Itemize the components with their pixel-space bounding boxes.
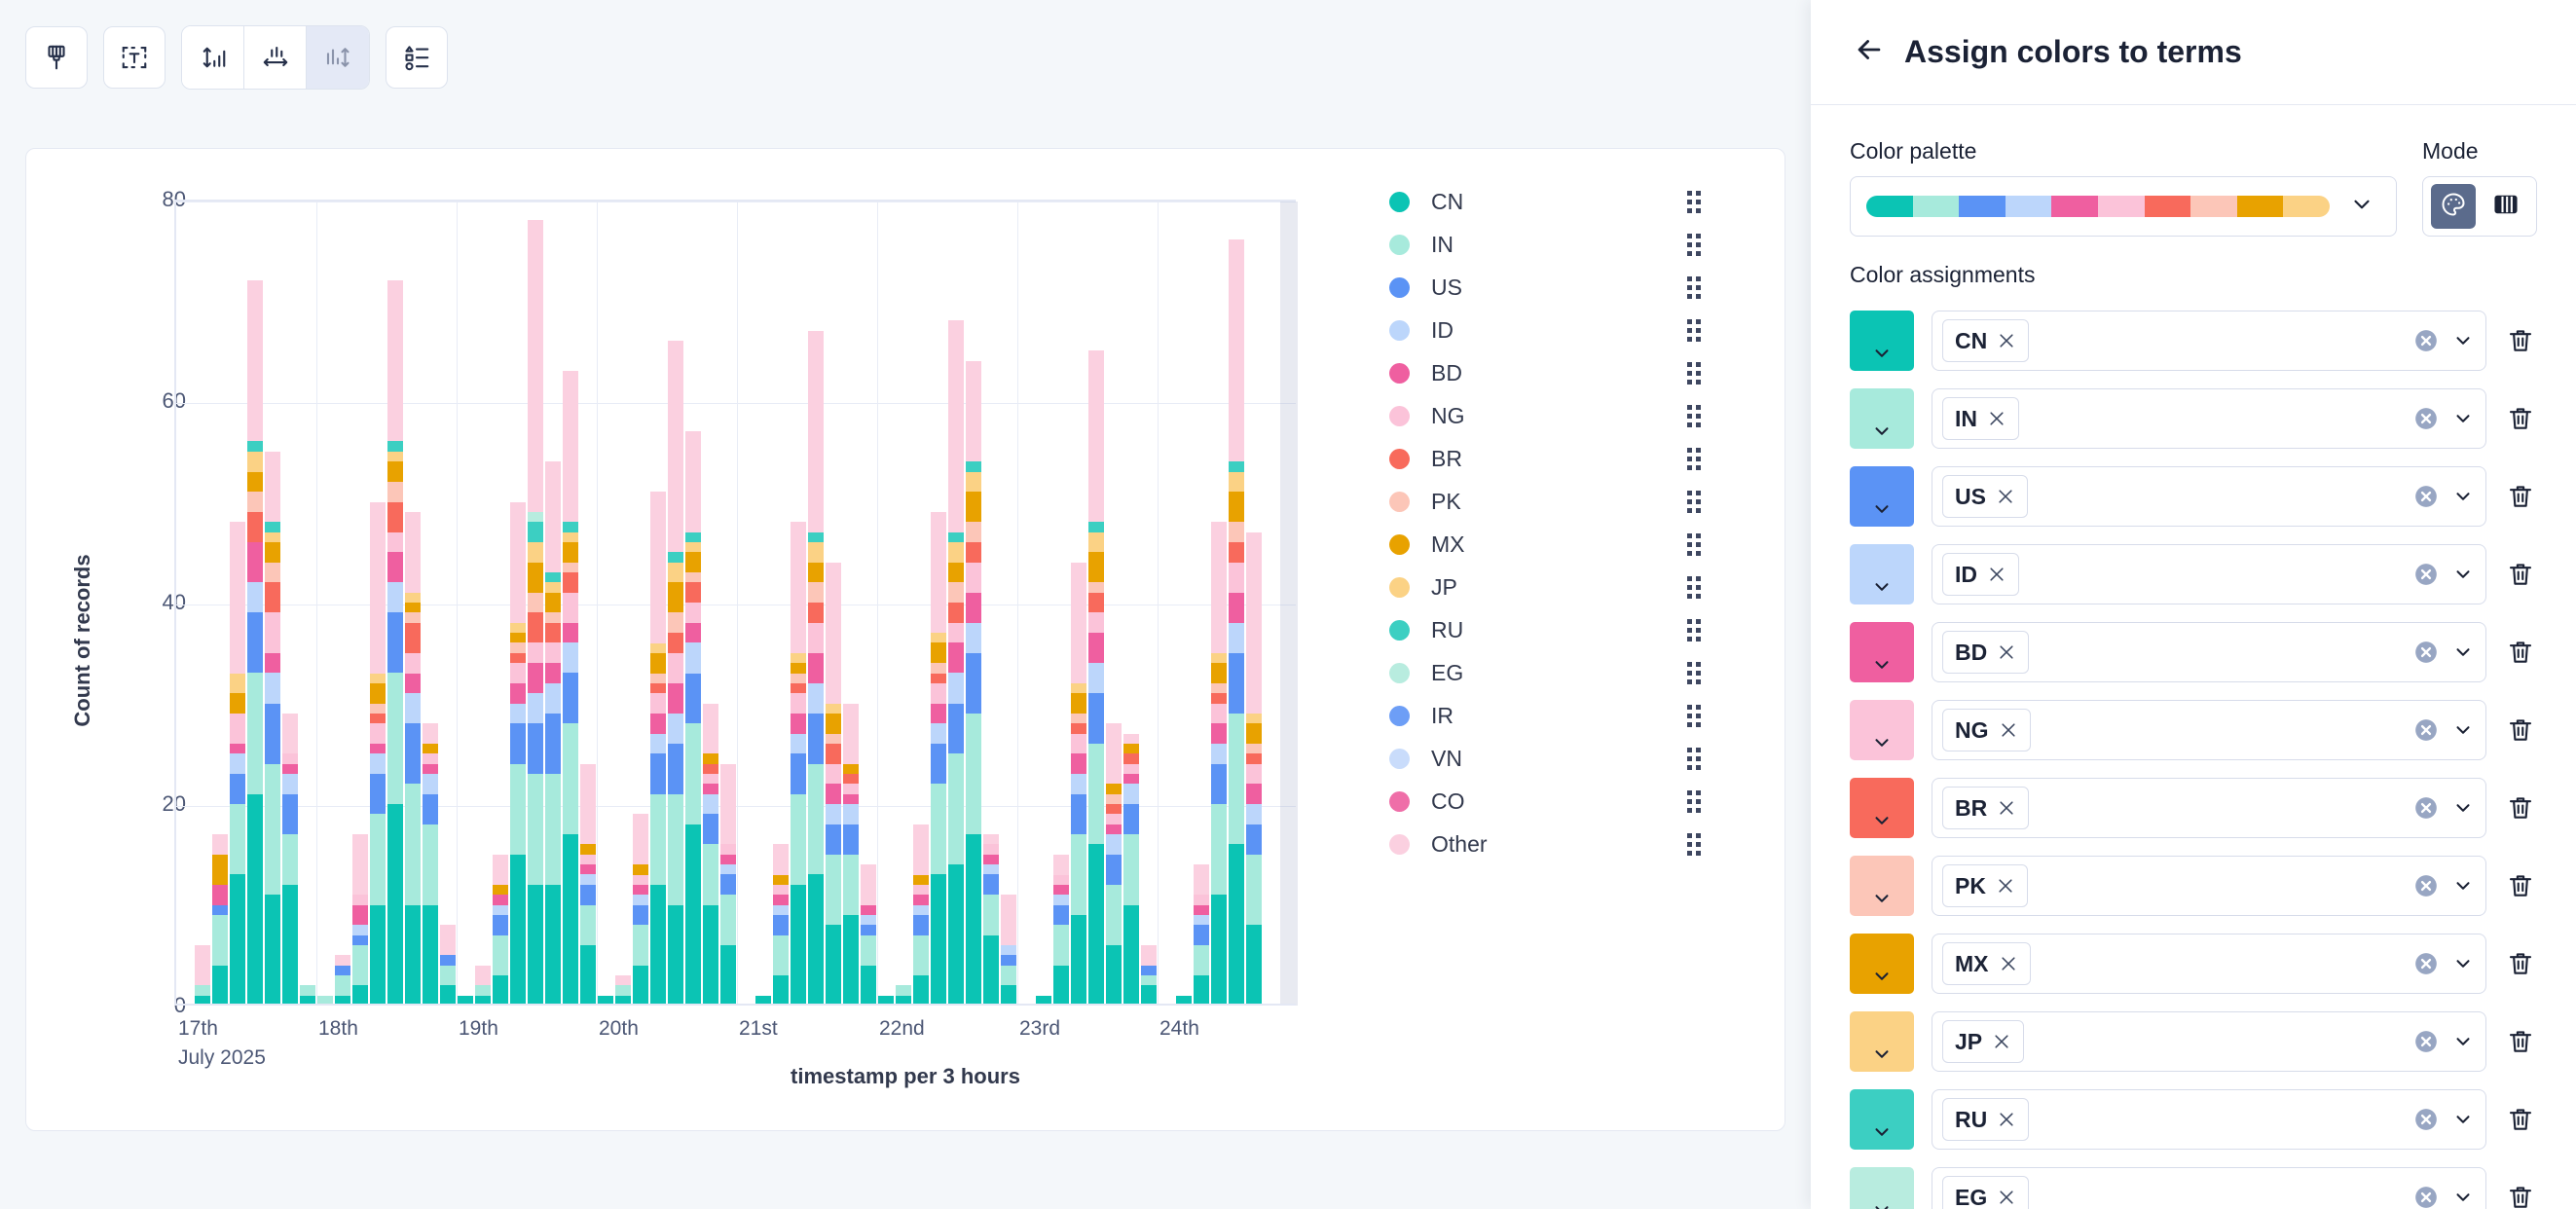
legend-item-in[interactable]: IN	[1368, 223, 1718, 266]
bar-segment	[265, 673, 280, 703]
bar-segment	[563, 623, 578, 643]
bar-segment	[1088, 532, 1104, 553]
remove-term-icon[interactable]	[1997, 1110, 2016, 1129]
bar-segment	[808, 683, 824, 714]
bar-segment	[352, 925, 368, 934]
remove-term-icon[interactable]	[1996, 487, 2015, 506]
bar-segment	[528, 593, 543, 613]
bar-segment	[948, 753, 964, 864]
remove-term-icon[interactable]	[1999, 720, 2018, 740]
chevron-down-icon	[2349, 192, 2374, 222]
bar-segment	[563, 723, 578, 834]
bar-segment	[633, 925, 648, 965]
color-swatch-button[interactable]	[1850, 856, 1914, 916]
color-swatch-button[interactable]	[1850, 1089, 1914, 1150]
clear-selection-icon[interactable]	[2413, 640, 2439, 665]
clear-selection-icon[interactable]	[2413, 328, 2439, 353]
term-combobox[interactable]: MX	[1932, 934, 2486, 994]
term-pill: IN	[1942, 397, 2019, 440]
term-combobox[interactable]: JP	[1932, 1011, 2486, 1072]
bar-segment	[1071, 723, 1086, 733]
bar[interactable]	[510, 502, 526, 1007]
bar-segment	[528, 642, 543, 663]
bar[interactable]	[720, 764, 736, 1006]
bar[interactable]	[423, 723, 438, 1006]
delete-assignment-button[interactable]	[2504, 482, 2537, 511]
bar-segment	[405, 723, 421, 784]
delete-assignment-button[interactable]	[2504, 715, 2537, 745]
legend-item-eg[interactable]: EG	[1368, 651, 1718, 694]
remove-term-icon[interactable]	[1987, 409, 2006, 428]
delete-assignment-button[interactable]	[2504, 871, 2537, 900]
clear-selection-icon[interactable]	[2413, 1185, 2439, 1209]
remove-term-icon[interactable]	[1999, 954, 2018, 973]
x-tick-label: 21st	[739, 1017, 778, 1041]
color-swatch-button[interactable]	[1850, 1011, 1914, 1072]
bar-segment	[808, 653, 824, 683]
bar-segment	[826, 855, 841, 925]
bar-segment	[1123, 774, 1139, 784]
bar[interactable]	[685, 431, 701, 1006]
bar[interactable]	[370, 502, 386, 1007]
clear-selection-icon[interactable]	[2413, 562, 2439, 587]
bar[interactable]	[983, 834, 999, 1006]
term-combobox[interactable]: ID	[1932, 544, 2486, 604]
bar-segment	[230, 522, 245, 673]
chevron-down-icon	[1871, 1121, 1893, 1148]
bar-segment	[510, 723, 526, 763]
drag-handle-icon[interactable]	[1687, 831, 1701, 857]
bar-segment	[265, 532, 280, 542]
bar-segment	[931, 744, 946, 784]
legend-item-mx[interactable]: MX	[1368, 523, 1718, 566]
bar[interactable]	[703, 704, 718, 1007]
bar-segment	[615, 985, 631, 995]
legend-item-vn[interactable]: VN	[1368, 737, 1718, 780]
bar-segment	[1194, 945, 1209, 975]
bar-segment	[1211, 895, 1227, 1006]
bar-segment	[387, 532, 403, 553]
bar-segment	[247, 512, 263, 542]
legend-item-us[interactable]: US	[1368, 266, 1718, 309]
legend-item-bd[interactable]: BD	[1368, 351, 1718, 394]
bar[interactable]	[1123, 734, 1139, 1006]
bar-segment	[791, 714, 806, 734]
bar-segment	[1053, 855, 1069, 875]
bar-segment	[563, 673, 578, 723]
chevron-down-icon	[1871, 810, 1893, 836]
bar[interactable]	[1141, 945, 1157, 1006]
delete-assignment-button[interactable]	[2504, 404, 2537, 433]
bar-segment	[983, 864, 999, 874]
x-tick-label: 19th	[459, 1017, 498, 1041]
text-frame-button[interactable]	[103, 26, 166, 89]
legend-item-cn[interactable]: CN	[1368, 180, 1718, 223]
delete-assignment-button[interactable]	[2504, 560, 2537, 589]
delete-assignment-button[interactable]	[2504, 949, 2537, 978]
bar[interactable]	[440, 925, 456, 1006]
bar[interactable]	[493, 855, 508, 1006]
bar[interactable]	[633, 814, 648, 1006]
bar-segment	[1246, 824, 1262, 855]
legend-item-label: MX	[1431, 531, 1687, 558]
legend-item-jp[interactable]: JP	[1368, 566, 1718, 608]
chevron-down-icon[interactable]	[2452, 1187, 2474, 1208]
chevron-down-icon[interactable]	[2452, 1031, 2474, 1052]
drag-handle-icon[interactable]	[1687, 317, 1701, 343]
bar-segment	[633, 895, 648, 904]
bar-segment	[405, 512, 421, 593]
bar-segment	[1088, 593, 1104, 613]
term-combobox[interactable]: IN	[1932, 388, 2486, 449]
delete-assignment-button[interactable]	[2504, 638, 2537, 667]
bar[interactable]	[1194, 864, 1209, 1006]
bar[interactable]	[843, 704, 859, 1007]
bar[interactable]	[387, 280, 403, 1006]
bar-segment	[826, 824, 841, 855]
plot-body	[176, 201, 1296, 1006]
drag-handle-icon[interactable]	[1687, 189, 1701, 214]
chevron-down-icon[interactable]	[2452, 719, 2474, 741]
bar-segment	[843, 764, 859, 774]
color-assignment-row: MX	[1850, 925, 2537, 1003]
bar-segment	[545, 714, 561, 774]
bar-segment	[335, 955, 350, 965]
palette-icon	[2440, 191, 2467, 223]
bar[interactable]	[1071, 563, 1086, 1006]
bar-segment	[247, 542, 263, 582]
bar-segment	[1194, 895, 1209, 904]
chart-toolbar	[25, 25, 448, 90]
color-swatch-button[interactable]	[1850, 622, 1914, 682]
delete-assignment-button[interactable]	[2504, 326, 2537, 355]
legend-item-co[interactable]: CO	[1368, 780, 1718, 823]
bar-segment	[808, 874, 824, 1006]
bar[interactable]	[265, 452, 280, 1006]
drag-handle-icon[interactable]	[1687, 617, 1701, 642]
clear-selection-icon[interactable]	[2413, 873, 2439, 898]
bar-segment	[247, 472, 263, 493]
term-combobox[interactable]: BD	[1932, 622, 2486, 682]
chevron-down-icon[interactable]	[2452, 953, 2474, 974]
bar-segment	[1106, 794, 1122, 804]
bar-segment	[528, 512, 543, 522]
panel-body: Color palette Mode	[1811, 105, 2576, 1209]
drag-handle-icon[interactable]	[1687, 232, 1701, 257]
bar[interactable]	[300, 985, 315, 1006]
bar-segment	[791, 522, 806, 653]
bar-segment	[983, 895, 999, 934]
drag-handle-icon[interactable]	[1687, 746, 1701, 771]
term-pill-label: PK	[1955, 873, 1986, 899]
color-swatch-button[interactable]	[1850, 544, 1914, 604]
chevron-down-icon[interactable]	[2452, 1109, 2474, 1130]
bar-segment	[580, 764, 596, 845]
term-combobox[interactable]: EG	[1932, 1167, 2486, 1209]
legend-color-dot	[1389, 706, 1410, 726]
back-button[interactable]	[1850, 33, 1889, 72]
chevron-down-icon[interactable]	[2452, 797, 2474, 819]
legend-item-ir[interactable]: IR	[1368, 694, 1718, 737]
bar[interactable]	[282, 714, 298, 1006]
panel-header: Assign colors to terms	[1811, 0, 2576, 105]
bar-segment	[685, 542, 701, 552]
chevron-down-icon[interactable]	[2452, 564, 2474, 585]
palette-swatch	[2006, 196, 2052, 217]
legend-item-ng[interactable]: NG	[1368, 394, 1718, 437]
chevron-down-icon[interactable]	[2452, 875, 2474, 897]
bar-segment	[650, 643, 666, 653]
clear-selection-icon[interactable]	[2413, 795, 2439, 821]
color-assignment-row: BR	[1850, 769, 2537, 847]
vertical-scale-button[interactable]	[307, 26, 369, 89]
legend-options-button[interactable]	[386, 26, 448, 89]
bar[interactable]	[212, 834, 228, 1006]
remove-term-icon[interactable]	[1997, 798, 2016, 818]
bar-segment	[387, 441, 403, 451]
drag-handle-icon[interactable]	[1687, 531, 1701, 557]
bar-segment	[265, 653, 280, 674]
clear-selection-icon[interactable]	[2413, 484, 2439, 509]
legend-item-other[interactable]: Other	[1368, 823, 1718, 865]
bar[interactable]	[1001, 895, 1016, 1006]
remove-term-icon[interactable]	[1997, 1188, 2016, 1207]
bar-segment	[475, 966, 491, 986]
delete-assignment-button[interactable]	[2504, 793, 2537, 823]
style-brush-button[interactable]	[25, 26, 88, 89]
bar-segment	[387, 673, 403, 804]
chevron-down-icon	[1871, 888, 1893, 914]
bar[interactable]	[352, 834, 368, 1006]
delete-assignment-button[interactable]	[2504, 1183, 2537, 1209]
drag-handle-icon[interactable]	[1687, 489, 1701, 514]
bar-segment	[247, 492, 263, 512]
remove-term-icon[interactable]	[1987, 565, 2006, 584]
chevron-down-icon[interactable]	[2452, 408, 2474, 429]
bar-segment	[720, 844, 736, 854]
bar[interactable]	[195, 945, 210, 1006]
term-combobox[interactable]: RU	[1932, 1089, 2486, 1150]
bar-segment	[405, 623, 421, 653]
bar-segment	[1123, 753, 1139, 763]
bar-segment	[510, 683, 526, 704]
bar-segment	[440, 985, 456, 1006]
bar[interactable]	[475, 966, 491, 1006]
bar-segment	[230, 874, 245, 1006]
paintbrush-icon	[42, 43, 71, 72]
color-swatch-button[interactable]	[1850, 466, 1914, 527]
bar[interactable]	[773, 844, 789, 1006]
vertical-bar-scale-button[interactable]	[182, 26, 244, 89]
bar-segment	[650, 714, 666, 734]
color-swatch-button[interactable]	[1850, 778, 1914, 838]
bar[interactable]	[405, 512, 421, 1006]
bar[interactable]	[1106, 723, 1122, 1006]
bar[interactable]	[826, 563, 841, 1006]
color-swatch-button[interactable]	[1850, 1167, 1914, 1209]
bar-segment	[528, 522, 543, 542]
legend-item-label: CO	[1431, 788, 1687, 815]
clear-selection-icon[interactable]	[2413, 1107, 2439, 1132]
remove-term-icon[interactable]	[1996, 876, 2015, 896]
bar-segment	[1071, 834, 1086, 915]
bar-segment	[808, 623, 824, 653]
bar-segment	[1229, 492, 1244, 522]
bar[interactable]	[563, 371, 578, 1006]
bar-segment	[1053, 895, 1069, 904]
bar-segment	[493, 975, 508, 1006]
clear-selection-icon[interactable]	[2413, 1029, 2439, 1054]
bar-segment	[1106, 855, 1122, 885]
color-assignment-row: US	[1850, 458, 2537, 535]
remove-term-icon[interactable]	[1997, 642, 2016, 662]
chevron-down-icon[interactable]	[2452, 641, 2474, 663]
bar[interactable]	[650, 492, 666, 1006]
bar[interactable]	[861, 864, 876, 1006]
color-swatch-button[interactable]	[1850, 700, 1914, 760]
legend-item-label: CN	[1431, 189, 1687, 215]
bar[interactable]	[808, 331, 824, 1006]
color-swatch-button[interactable]	[1850, 388, 1914, 449]
bar[interactable]	[580, 764, 596, 1006]
bar-segment	[948, 563, 964, 583]
bar-segment	[1071, 563, 1086, 683]
mode-palette-button[interactable]	[2431, 184, 2476, 229]
drag-handle-icon[interactable]	[1687, 574, 1701, 600]
bar-segment	[685, 532, 701, 542]
bar-segment	[493, 895, 508, 904]
drag-handle-icon[interactable]	[1687, 403, 1701, 428]
bar-segment	[826, 744, 841, 764]
bar[interactable]	[966, 361, 981, 1006]
bar-segment	[1141, 945, 1157, 966]
bar[interactable]	[247, 280, 263, 1006]
bar-segment	[826, 764, 841, 785]
bar[interactable]	[948, 320, 964, 1006]
bar-segment	[423, 794, 438, 824]
drag-handle-icon[interactable]	[1687, 788, 1701, 814]
drag-handle-icon[interactable]	[1687, 360, 1701, 385]
bar[interactable]	[1246, 532, 1262, 1006]
palette-select[interactable]	[1850, 176, 2397, 237]
bar[interactable]	[913, 824, 929, 1006]
chevron-down-icon	[1871, 654, 1893, 680]
bar-segment	[861, 925, 876, 934]
bar[interactable]	[615, 975, 631, 1006]
bar[interactable]	[896, 985, 911, 1006]
remove-term-icon[interactable]	[1997, 331, 2016, 350]
bar[interactable]	[791, 522, 806, 1006]
drag-handle-icon[interactable]	[1687, 703, 1701, 728]
bar[interactable]	[335, 955, 350, 1006]
palette-swatch	[1913, 196, 1960, 217]
delete-assignment-button[interactable]	[2504, 1105, 2537, 1134]
term-combobox[interactable]: NG	[1932, 700, 2486, 760]
bar[interactable]	[931, 512, 946, 1006]
legend-item-id[interactable]: ID	[1368, 309, 1718, 351]
color-swatch-button[interactable]	[1850, 934, 1914, 994]
bar-segment	[913, 915, 929, 935]
bar[interactable]	[545, 461, 561, 1006]
term-combobox[interactable]: US	[1932, 466, 2486, 527]
bar-segment	[1229, 472, 1244, 493]
legend-item-pk[interactable]: PK	[1368, 480, 1718, 523]
drag-handle-icon[interactable]	[1687, 446, 1701, 471]
bar-segment	[545, 572, 561, 582]
term-pill-label: JP	[1955, 1029, 1982, 1055]
bar[interactable]	[1088, 350, 1104, 1006]
bar-segment	[405, 905, 421, 1006]
term-combobox[interactable]: CN	[1932, 311, 2486, 371]
bar[interactable]	[1229, 239, 1244, 1006]
term-combobox[interactable]: PK	[1932, 856, 2486, 916]
bar-segment	[545, 593, 561, 613]
vertical-gridline	[1017, 201, 1018, 1006]
bar-segment	[563, 542, 578, 563]
bar-segment	[1194, 864, 1209, 895]
color-swatch-button[interactable]	[1850, 311, 1914, 371]
bar[interactable]	[1211, 522, 1227, 1006]
term-combobox[interactable]: BR	[1932, 778, 2486, 838]
bar-segment	[352, 834, 368, 895]
legend-color-dot	[1389, 192, 1410, 212]
legend-item-br[interactable]: BR	[1368, 437, 1718, 480]
bar-segment	[948, 642, 964, 673]
bar[interactable]	[528, 220, 543, 1006]
bar-segment	[843, 774, 859, 784]
bar-segment	[563, 371, 578, 522]
chevron-down-icon[interactable]	[2452, 330, 2474, 351]
clear-selection-icon[interactable]	[2413, 951, 2439, 976]
chevron-down-icon[interactable]	[2452, 486, 2474, 507]
bar-segment	[510, 653, 526, 663]
color-assignment-row: RU	[1850, 1081, 2537, 1158]
horizontal-extent-button[interactable]	[244, 26, 307, 89]
palette-swatch	[2237, 196, 2284, 217]
bar-segment	[948, 542, 964, 563]
bar[interactable]	[230, 522, 245, 1006]
assignments-label: Color assignments	[1850, 262, 2537, 288]
color-assignment-row: ID	[1850, 535, 2537, 613]
bar-segment	[1053, 905, 1069, 926]
bar-segment	[983, 844, 999, 854]
term-pill: BD	[1942, 631, 2029, 674]
bar-segment	[913, 935, 929, 975]
bar-segment	[212, 915, 228, 966]
bar-segment	[580, 874, 596, 884]
bar-segment	[948, 582, 964, 603]
bar-segment	[633, 814, 648, 864]
clear-selection-icon[interactable]	[2413, 406, 2439, 431]
color-assignment-row: JP	[1850, 1003, 2537, 1081]
mode-gradient-button[interactable]	[2484, 184, 2528, 229]
bar[interactable]	[1053, 855, 1069, 1006]
drag-handle-icon[interactable]	[1687, 275, 1701, 300]
bar-segment	[370, 502, 386, 674]
legend-item-ru[interactable]: RU	[1368, 608, 1718, 651]
palette-label: Color palette	[1850, 138, 2397, 165]
vertical-gridline	[877, 201, 878, 1006]
bar-segment	[563, 563, 578, 572]
remove-term-icon[interactable]	[1992, 1032, 2011, 1051]
drag-handle-icon[interactable]	[1687, 660, 1701, 685]
delete-assignment-button[interactable]	[2504, 1027, 2537, 1056]
bar-segment	[370, 905, 386, 1007]
gradient-bars-icon	[2492, 191, 2520, 223]
bar[interactable]	[668, 341, 683, 1006]
clear-selection-icon[interactable]	[2413, 717, 2439, 743]
bar-segment	[370, 674, 386, 683]
